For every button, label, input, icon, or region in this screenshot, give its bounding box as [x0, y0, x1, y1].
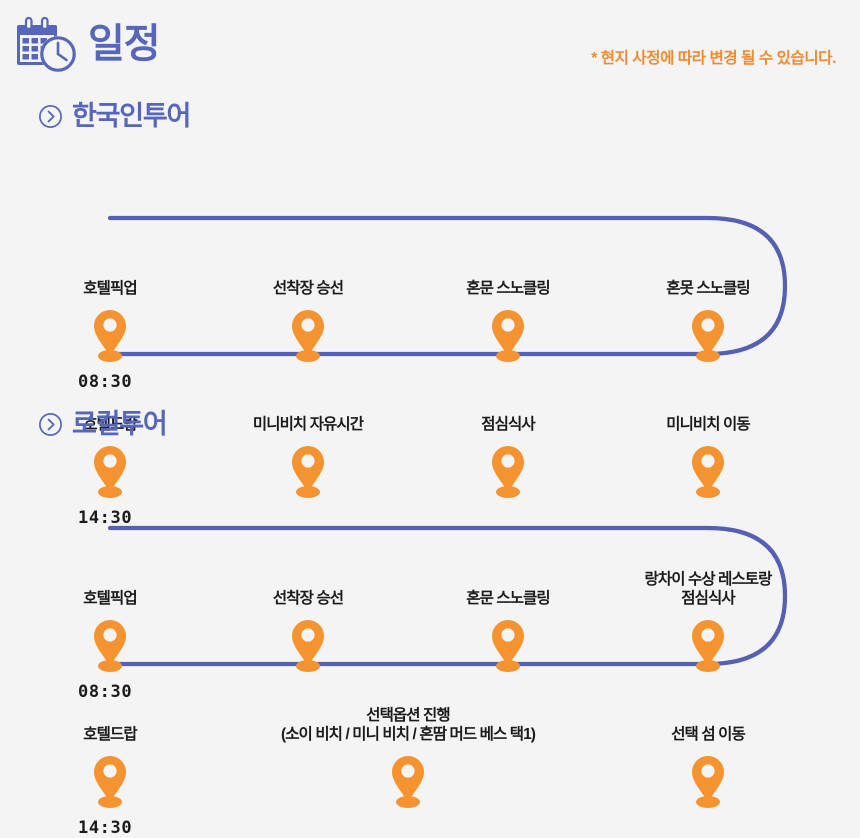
stop-label-line2: (소이 비치 / 미니 비치 / 혼땀 머드 베스 택1)	[281, 725, 535, 744]
stop-time: 08:30	[78, 682, 132, 702]
map-pin-icon	[90, 306, 130, 362]
stop-label-multiline: 랑차이 수상 레스토랑 점심식사	[644, 570, 771, 608]
stop-label: 점심식사	[481, 415, 534, 434]
map-pin-icon	[688, 616, 728, 672]
stop-label: 호텔픽업	[83, 279, 136, 298]
map-pin-icon	[488, 616, 528, 672]
stop-label-line1: 랑차이 수상 레스토랑	[644, 571, 771, 588]
page-header: 일정 * 현지 사정에 따라 변경 될 수 있습니다.	[0, 0, 860, 92]
section-header-local-tour: 로컬투어	[38, 409, 167, 439]
chevron-right-circle-icon	[38, 104, 63, 129]
section-title: 한국인투어	[72, 101, 190, 131]
calendar-clock-icon	[14, 16, 80, 76]
stop-label: 호텔드랍	[83, 725, 136, 744]
chevron-right-circle-icon	[38, 412, 63, 437]
stop-label: 선착장 승선	[273, 279, 343, 298]
stop-label-line1: 선택옵션 진행	[366, 707, 450, 724]
stop-label: 선택 섬 이동	[671, 725, 745, 744]
map-pin-icon	[90, 752, 130, 808]
stop-label-multiline: 선택옵션 진행 (소이 비치 / 미니 비치 / 혼땀 머드 베스 택1)	[281, 706, 535, 744]
map-pin-icon	[688, 752, 728, 808]
map-pin-icon	[288, 306, 328, 362]
timeline-korean-tour: 호텔픽업 08:30 선착장 승선 혼문 스노클링	[0, 140, 860, 390]
section-header-korean-tour: 한국인투어	[38, 101, 190, 131]
page-title: 일정	[88, 18, 160, 70]
map-pin-icon	[388, 752, 428, 808]
stop-time: 08:30	[78, 372, 132, 392]
map-pin-icon	[688, 306, 728, 362]
stop-label: 미니비치 이동	[666, 415, 750, 434]
stop-label: 혼문 스노클링	[466, 279, 550, 298]
map-pin-icon	[288, 616, 328, 672]
stop-label: 호텔픽업	[83, 589, 136, 608]
stop-label-line2: 점심식사	[644, 589, 771, 608]
schedule-page: 일정 * 현지 사정에 따라 변경 될 수 있습니다. 한국인투어 호텔픽업	[0, 0, 860, 742]
notice-text: * 현지 사정에 따라 변경 될 수 있습니다.	[591, 46, 836, 68]
stop-label: 혼문 스노클링	[466, 589, 550, 608]
stop-label: 혼못 스노클링	[666, 279, 750, 298]
stop-label: 선착장 승선	[273, 589, 343, 608]
map-pin-icon	[90, 616, 130, 672]
stop-time: 14:30	[78, 818, 132, 838]
section-title: 로컬투어	[72, 409, 167, 439]
timeline-local-tour: 호텔픽업 08:30 선착장 승선 혼문 스노클링	[0, 450, 860, 705]
map-pin-icon	[488, 306, 528, 362]
stop-label: 미니비치 자유시간	[253, 415, 363, 434]
